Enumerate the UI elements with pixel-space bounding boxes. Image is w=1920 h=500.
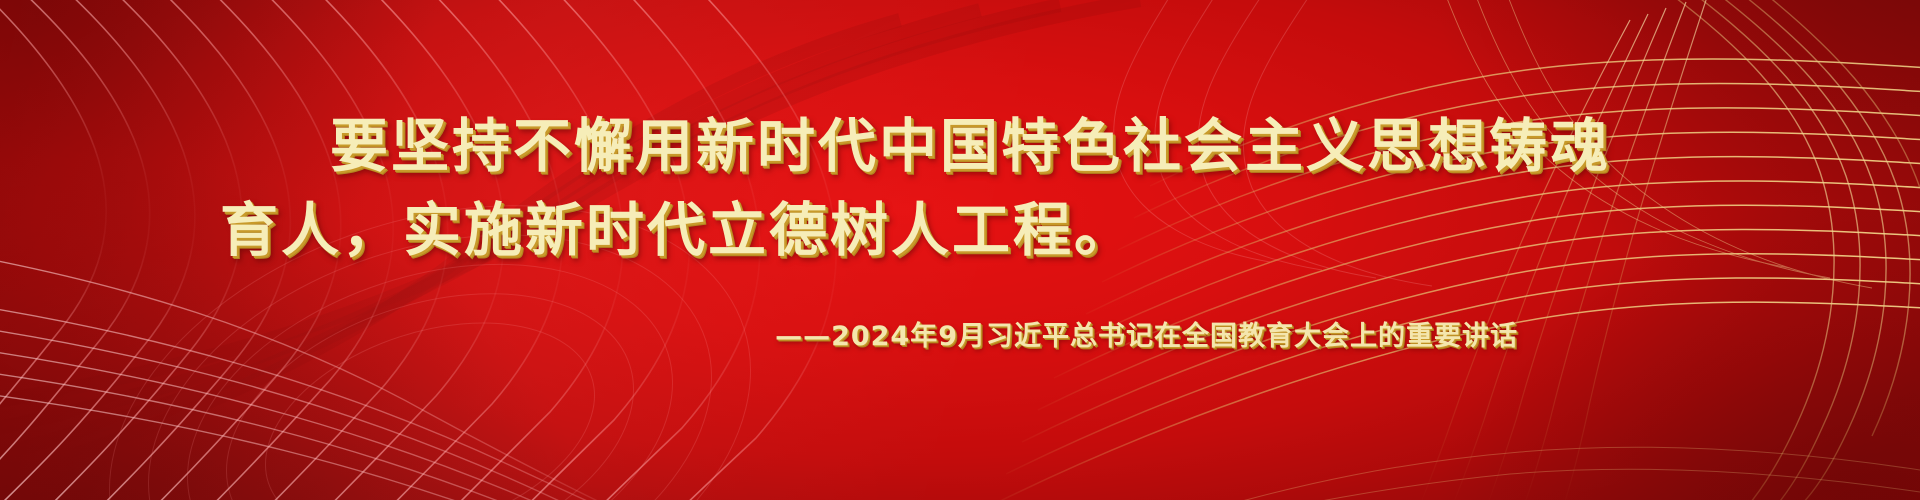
headline-line-2: 育人，实施新时代立德树人工程。 xyxy=(220,188,1700,272)
banner-content: 要坚持不懈用新时代中国特色社会主义思想铸魂 育人，实施新时代立德树人工程。 ——… xyxy=(0,0,1920,500)
headline-line-1: 要坚持不懈用新时代中国特色社会主义思想铸魂 xyxy=(220,104,1700,188)
attribution-source: ——2024年9月习近平总书记在全国教育大会上的重要讲话 xyxy=(220,314,1700,353)
red-banner: 要坚持不懈用新时代中国特色社会主义思想铸魂 育人，实施新时代立德树人工程。 ——… xyxy=(0,0,1920,500)
headline: 要坚持不懈用新时代中国特色社会主义思想铸魂 育人，实施新时代立德树人工程。 xyxy=(220,104,1700,272)
